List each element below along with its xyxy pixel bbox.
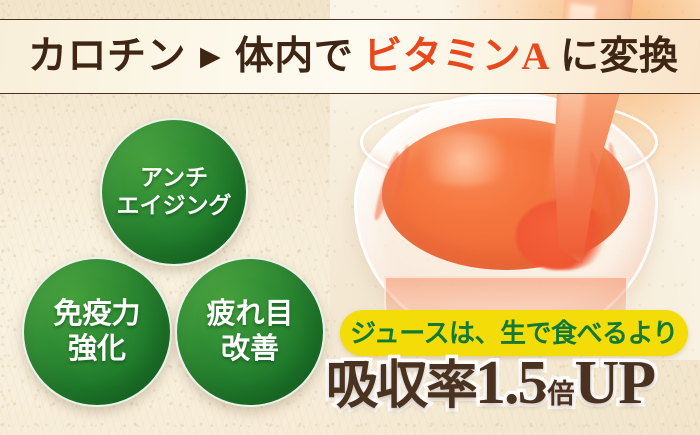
headline-number: 1.5 <box>475 352 547 414</box>
benefit-badge-anti-aging[interactable]: アンチ エイジング <box>100 118 248 266</box>
juice-highlight <box>408 132 520 186</box>
promo-banner: カロチン ▶ 体内で ビタミンA に変換 アンチ エイジング 免疫力 強化 疲れ… <box>0 0 700 435</box>
badge-label-line1: 疲れ目 <box>206 297 293 332</box>
badge-label-line1: アンチ <box>140 164 208 192</box>
badge-label-line2: エイジング <box>117 192 232 220</box>
header-mid-text: 体内で <box>235 37 354 76</box>
header-text-row: カロチン ▶ 体内で ビタミンA に変換 <box>0 37 678 76</box>
headline-prefix: 吸収率 <box>326 361 476 413</box>
header-lead-text: カロチン <box>28 37 186 76</box>
benefit-badge-immunity[interactable]: 免疫力 強化 <box>22 257 172 407</box>
badge-label-line1: 免疫力 <box>53 297 140 332</box>
badge-label-line2: 改善 <box>221 332 279 367</box>
badge-label-line2: 強化 <box>68 332 126 367</box>
callout-headline: 吸収率 1.5 倍 UP <box>326 352 700 428</box>
headline-unit: 倍 <box>548 381 574 408</box>
callout-pill-text: ジュースは、生で食べるより <box>350 320 678 346</box>
triangle-right-icon: ▶ <box>200 43 221 70</box>
header-tail-text: に変換 <box>560 37 679 76</box>
headline-suffix: UP <box>575 352 656 414</box>
header-accent-text: ビタミンA <box>363 37 550 76</box>
header-band: カロチン ▶ 体内で ビタミンA に変換 <box>0 19 700 94</box>
benefit-badge-eye-fatigue[interactable]: 疲れ目 改善 <box>175 257 325 407</box>
